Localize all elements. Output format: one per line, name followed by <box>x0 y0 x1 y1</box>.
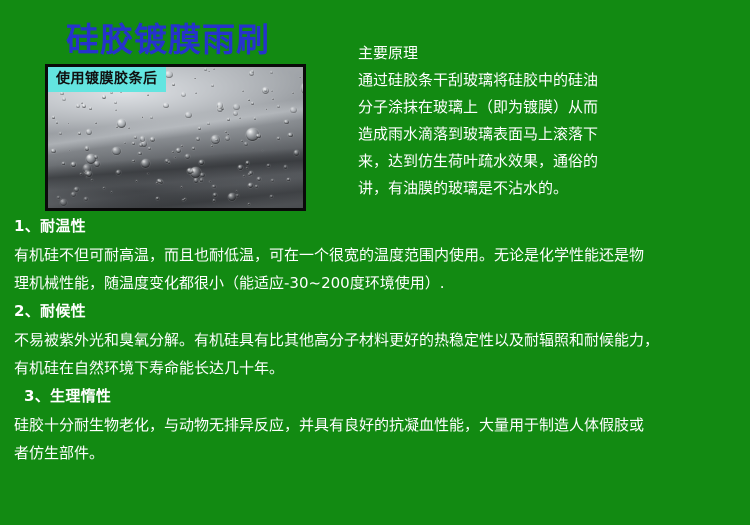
water-droplet <box>150 137 155 142</box>
water-droplet <box>91 179 93 181</box>
water-droplet <box>227 134 229 136</box>
feature-sections: 1、耐温性 有机硅不但可耐高温，而且也耐低温，可在一个很宽的温度范围内使用。无论… <box>14 212 742 467</box>
water-droplet <box>213 193 217 197</box>
water-droplet <box>71 162 76 167</box>
water-droplet <box>241 140 243 142</box>
water-droplet <box>86 177 88 179</box>
water-droplet <box>198 127 201 130</box>
water-droplet <box>117 119 126 128</box>
water-droplet <box>243 175 245 177</box>
water-droplet <box>141 159 150 168</box>
water-droplet <box>262 87 269 94</box>
water-droplet <box>163 103 168 108</box>
water-droplet <box>287 178 290 181</box>
page-title: 硅胶镀膜雨刷 <box>66 20 270 60</box>
feature-heading-3: 3、生理惰性 <box>14 382 742 411</box>
water-droplet <box>168 161 171 164</box>
product-detail-page: 硅胶镀膜雨刷 使用镀膜胶条后 主要原理 通过硅胶条干刮玻璃将硅胶中的硅油 分子涂… <box>0 0 750 525</box>
water-droplet <box>114 101 117 104</box>
product-photo: 使用镀膜胶条后 <box>45 64 306 211</box>
water-droplet <box>134 136 136 138</box>
water-droplet <box>244 142 248 146</box>
water-droplet <box>266 108 268 110</box>
water-droplet <box>267 164 270 167</box>
water-droplet <box>165 71 173 79</box>
water-droplet <box>254 117 257 120</box>
water-droplet <box>132 160 134 162</box>
water-droplet <box>246 161 249 164</box>
principle-line-2: 分子涂抹在玻璃上（即为镀膜）从而 <box>358 94 750 121</box>
water-droplet <box>138 152 142 156</box>
water-droplet <box>176 148 181 153</box>
water-droplet <box>111 191 113 193</box>
water-droplet <box>233 111 238 116</box>
water-droplet <box>284 165 287 168</box>
water-droplet <box>211 145 213 147</box>
feature-body-3-line-1: 硅胶十分耐生物老化，与动物无排异反应，并具有良好的抗凝血性能，大量用于制造人体假… <box>14 411 742 439</box>
water-droplet <box>238 165 243 170</box>
water-droplet <box>213 199 216 202</box>
water-droplet <box>103 187 105 189</box>
water-droplet <box>85 146 90 151</box>
water-droplet <box>251 102 254 105</box>
water-droplet <box>248 99 250 101</box>
water-droplet <box>194 178 198 182</box>
feature-heading-1: 1、耐温性 <box>14 212 742 241</box>
water-droplet <box>62 97 66 101</box>
principle-line-1: 通过硅胶条干刮玻璃将硅胶中的硅油 <box>358 67 750 94</box>
water-droplet <box>185 154 190 159</box>
water-droplet <box>150 116 153 119</box>
water-droplet <box>256 134 260 138</box>
water-droplet <box>94 155 98 159</box>
water-droplet <box>301 81 306 96</box>
water-droplet <box>204 68 207 71</box>
water-droplet <box>200 178 204 182</box>
water-droplet <box>94 161 100 167</box>
water-droplet <box>217 106 223 112</box>
water-droplet <box>115 109 117 111</box>
feature-body-1-line-2: 理机械性能，随温度变化都很小（能适应-30~200度环境使用）. <box>14 269 742 297</box>
water-droplet <box>82 104 86 108</box>
principle-line-3: 造成雨水滴落到玻璃表面马上滚落下 <box>358 121 750 148</box>
feature-section-1: 1、耐温性 有机硅不但可耐高温，而且也耐低温，可在一个很宽的温度范围内使用。无论… <box>14 212 742 297</box>
water-droplet <box>294 150 300 156</box>
water-droplet <box>172 151 174 153</box>
water-droplet <box>76 104 80 108</box>
water-droplet <box>60 199 67 206</box>
water-droplet <box>288 133 292 137</box>
water-droplet <box>51 149 56 154</box>
water-droplet <box>194 78 196 80</box>
water-droplet <box>89 107 92 110</box>
water-droplet <box>181 92 186 97</box>
water-droplet <box>195 92 197 94</box>
feature-body-2-line-1: 不易被紫外光和臭氧分解。有机硅具有比其他高分子材料更好的热稳定性以及耐辐照和耐候… <box>14 326 742 354</box>
water-droplet <box>271 179 275 183</box>
water-droplet <box>249 171 253 175</box>
water-droplet <box>112 147 121 156</box>
principle-line-4: 来，达到仿生荷叶疏水效果，通俗的 <box>358 148 750 175</box>
water-droplet <box>181 186 183 188</box>
feature-body-1-line-1: 有机硅不但可耐高温，而且也耐低温，可在一个很宽的温度范围内使用。无论是化学性能还… <box>14 241 742 269</box>
water-droplet <box>136 180 138 182</box>
water-droplet <box>242 90 244 92</box>
feature-body-3-line-2: 者仿生部件。 <box>14 439 742 467</box>
photo-caption-label: 使用镀膜胶条后 <box>48 67 166 92</box>
water-droplet <box>182 199 185 202</box>
water-droplet <box>52 116 55 119</box>
water-droplet <box>157 179 161 183</box>
water-droplet <box>102 95 106 99</box>
water-droplet <box>236 190 238 192</box>
water-droplet <box>200 173 205 178</box>
water-droplet <box>56 121 59 124</box>
feature-body-1: 有机硅不但可耐高温，而且也耐低温，可在一个很宽的温度范围内使用。无论是化学性能还… <box>14 241 742 297</box>
water-droplet <box>86 129 92 135</box>
water-droplet <box>239 117 241 119</box>
principle-line-5: 讲，有油膜的玻璃是不沾水的。 <box>358 175 750 202</box>
water-droplet <box>262 150 264 152</box>
water-droplet <box>172 83 175 86</box>
water-droplet <box>62 162 65 165</box>
water-droplet <box>95 122 97 124</box>
water-droplet <box>147 173 149 175</box>
water-droplet <box>233 104 239 110</box>
water-droplet <box>211 84 214 87</box>
water-droplet <box>270 195 273 198</box>
water-droplet <box>246 167 248 169</box>
feature-heading-2: 2、耐候性 <box>14 297 742 326</box>
water-droplet <box>142 116 144 118</box>
water-droplet <box>255 185 258 188</box>
water-droplet <box>147 94 149 96</box>
water-droplet <box>71 192 76 197</box>
water-droplet <box>199 160 204 165</box>
water-droplet <box>196 137 200 141</box>
water-droplet <box>208 71 210 73</box>
water-droplet <box>257 177 261 181</box>
water-droplet <box>86 171 92 177</box>
water-droplet <box>227 118 230 121</box>
water-droplet <box>292 92 294 94</box>
water-droplet <box>60 92 64 96</box>
water-droplet <box>124 142 126 144</box>
water-droplet <box>211 135 220 144</box>
water-droplet <box>225 136 230 141</box>
water-droplet <box>132 142 135 145</box>
water-droplet <box>290 107 297 114</box>
water-droplet <box>59 132 62 135</box>
principle-block: 主要原理 通过硅胶条干刮玻璃将硅胶中的硅油 分子涂抹在玻璃上（即为镀膜）从而 造… <box>358 40 750 202</box>
water-droplet <box>181 145 183 147</box>
water-droplet <box>207 122 210 125</box>
water-droplet <box>277 137 279 139</box>
water-droplet <box>80 173 82 175</box>
water-droplet <box>128 127 130 129</box>
water-droplet <box>225 131 228 134</box>
water-droplet <box>187 168 193 174</box>
feature-body-3: 硅胶十分耐生物老化，与动物无排异反应，并具有良好的抗凝血性能，大量用于制造人体假… <box>14 411 742 467</box>
water-droplet <box>213 68 215 70</box>
water-droplet <box>236 194 239 197</box>
water-droplet <box>271 90 273 92</box>
water-droplet <box>248 183 253 188</box>
water-droplet <box>148 147 151 150</box>
water-droplet <box>84 197 88 201</box>
water-droplet <box>78 132 81 135</box>
water-droplet <box>272 98 274 100</box>
water-droplet <box>270 71 273 74</box>
water-droplet <box>249 71 254 76</box>
water-droplet <box>277 105 280 108</box>
feature-section-2: 2、耐候性 不易被紫外光和臭氧分解。有机硅具有比其他高分子材料更好的热稳定性以及… <box>14 297 742 382</box>
water-droplet <box>116 170 121 175</box>
water-droplet <box>185 112 191 118</box>
principle-heading: 主要原理 <box>358 40 750 67</box>
water-droplet <box>156 197 159 200</box>
water-droplet <box>284 120 289 125</box>
water-droplet <box>174 157 176 159</box>
feature-section-3: 3、生理惰性 硅胶十分耐生物老化，与动物无排异反应，并具有良好的抗凝血性能，大量… <box>14 382 742 467</box>
water-droplet <box>299 77 301 79</box>
water-droplet <box>209 181 211 183</box>
feature-body-2-line-2: 有机硅在自然环境下寿命能长达几十年。 <box>14 354 742 382</box>
water-droplet <box>68 123 70 125</box>
water-droplet <box>192 147 195 150</box>
feature-body-2: 不易被紫外光和臭氧分解。有机硅具有比其他高分子材料更好的热稳定性以及耐辐照和耐候… <box>14 326 742 382</box>
water-droplet <box>57 196 60 199</box>
water-droplet <box>69 150 71 152</box>
water-droplet <box>212 185 215 188</box>
water-droplet <box>248 203 250 205</box>
